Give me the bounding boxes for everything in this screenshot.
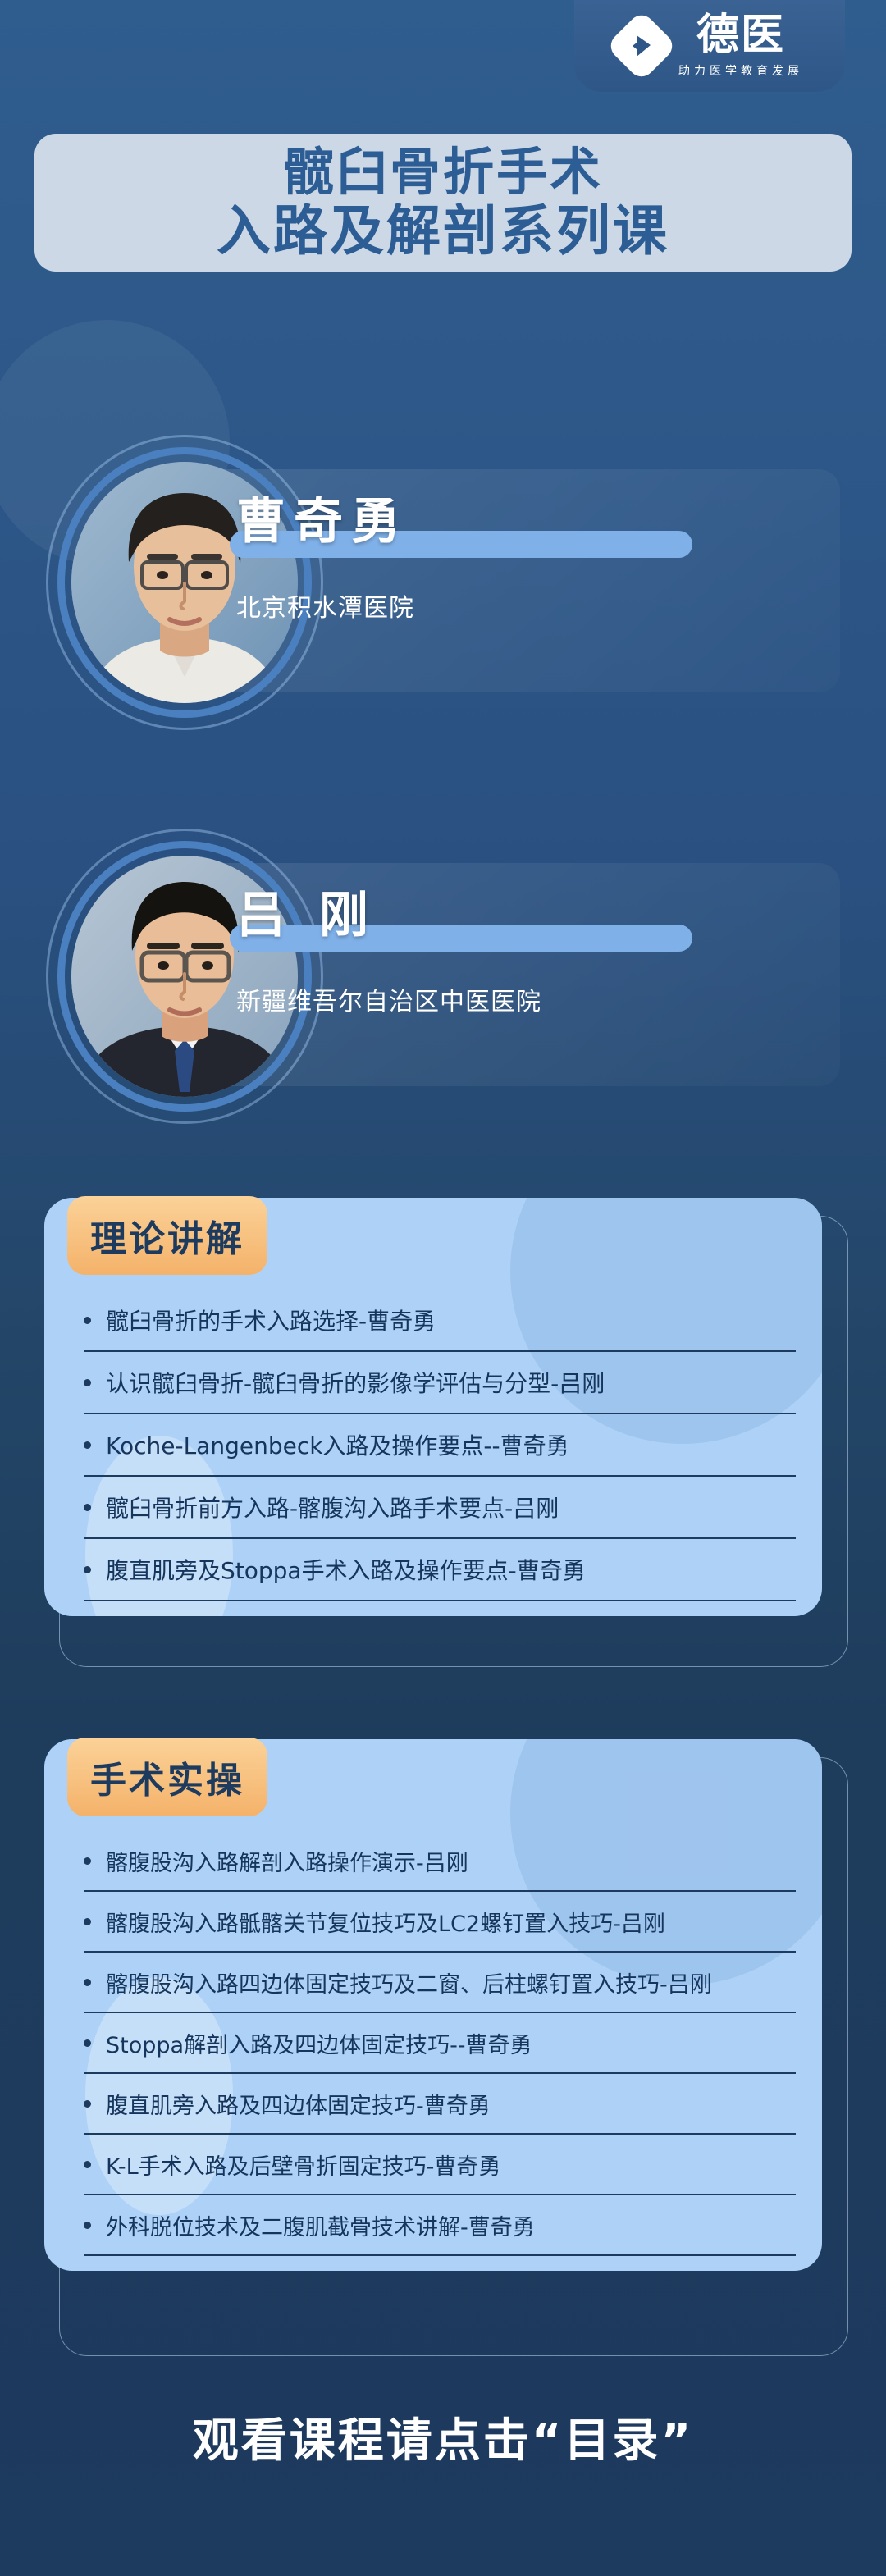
course-list-practice: 髂腹股沟入路解剖入路操作演示-吕刚 髂腹股沟入路骶髂关节复位技巧及LC2螺钉置入…	[44, 1739, 822, 2271]
section-badge-label: 手术实操	[90, 1751, 244, 1803]
speaker-name: 吕 刚	[236, 886, 827, 940]
list-item-label: K-L手术入路及后壁骨折固定技巧-曹奇勇	[106, 2149, 500, 2181]
list-item-label: 外科脱位技术及二腹肌截骨技术讲解-曹奇勇	[106, 2209, 535, 2241]
list-item-label: 腹直肌旁入路及四边体固定技巧-曹奇勇	[106, 2088, 491, 2120]
list-item[interactable]: 腹直肌旁及Stoppa手术入路及操作要点-曹奇勇	[84, 1539, 796, 1601]
section-theory: 髋臼骨折的手术入路选择-曹奇勇 认识髋臼骨折-髋臼骨折的影像学评估与分型-吕刚 …	[44, 1198, 833, 1649]
footer-cta-label: 观看课程请点击“目录”	[193, 2414, 694, 2468]
list-item-label: 髋臼骨折的手术入路选择-曹奇勇	[106, 1304, 436, 1336]
bullet-icon	[84, 1857, 91, 1865]
brand-tagline: 助力医学教育发展	[678, 62, 803, 79]
list-item-label: 认识髋臼骨折-髋臼骨折的影像学评估与分型-吕刚	[106, 1366, 605, 1399]
bullet-icon	[84, 1918, 91, 1925]
brand-name: 德医	[696, 14, 785, 57]
bullet-icon	[84, 1979, 91, 1986]
bullet-icon	[84, 2222, 91, 2229]
bullet-icon	[84, 2100, 91, 2108]
speaker-org: 新疆维吾尔自治区中医医院	[236, 981, 827, 1017]
list-item-label: Koche-Langenbeck入路及操作要点--曹奇勇	[106, 1428, 569, 1461]
footer-cta: 观看课程请点击“目录”	[0, 2404, 886, 2470]
section-practice: 髂腹股沟入路解剖入路操作演示-吕刚 髂腹股沟入路骶髂关节复位技巧及LC2螺钉置入…	[44, 1739, 833, 2338]
bullet-icon	[84, 2161, 91, 2168]
list-item[interactable]: 髂腹股沟入路骶髂关节复位技巧及LC2螺钉置入技巧-吕刚	[84, 1892, 796, 1953]
list-item[interactable]: 髋臼骨折前方入路-髂腹沟入路手术要点-吕刚	[84, 1477, 796, 1539]
list-item-label: 髂腹股沟入路四边体固定技巧及二窗、后柱螺钉置入技巧-吕刚	[106, 1966, 712, 1998]
play-diamond-icon	[605, 10, 678, 82]
bullet-icon	[84, 1379, 91, 1386]
section-badge-label: 理论讲解	[90, 1209, 244, 1262]
list-item[interactable]: Koche-Langenbeck入路及操作要点--曹奇勇	[84, 1414, 796, 1477]
poster-root: 德医 助力医学教育发展 髋臼骨折手术 入路及解剖系列课	[0, 0, 886, 2576]
list-item-label: 髂腹股沟入路解剖入路操作演示-吕刚	[106, 1845, 468, 1877]
section-card: 髂腹股沟入路解剖入路操作演示-吕刚 髂腹股沟入路骶髂关节复位技巧及LC2螺钉置入…	[44, 1739, 822, 2271]
section-badge-practice: 手术实操	[67, 1738, 267, 1816]
list-item[interactable]: K-L手术入路及后壁骨折固定技巧-曹奇勇	[84, 2135, 796, 2195]
bullet-icon	[84, 2039, 91, 2047]
section-badge-theory: 理论讲解	[67, 1196, 267, 1275]
bullet-icon	[84, 1504, 91, 1511]
list-item[interactable]: 腹直肌旁入路及四边体固定技巧-曹奇勇	[84, 2074, 796, 2135]
list-item-label: 髂腹股沟入路骶髂关节复位技巧及LC2螺钉置入技巧-吕刚	[106, 1906, 665, 1938]
speaker-info: 曹奇勇 北京积水潭医院	[236, 492, 827, 623]
brand-logo: 德医 助力医学教育发展	[574, 0, 845, 92]
list-item[interactable]: Stoppa解剖入路及四边体固定技巧--曹奇勇	[84, 2013, 796, 2074]
speaker-info: 吕 刚 新疆维吾尔自治区中医医院	[236, 886, 827, 1017]
title-line-2: 入路及解剖系列课	[217, 201, 669, 262]
title-line-1: 髋臼骨折手术	[283, 144, 603, 200]
bullet-icon	[84, 1566, 91, 1573]
speaker-name: 曹奇勇	[236, 492, 827, 546]
speaker-card-2: 吕 刚 新疆维吾尔自治区中医医院	[46, 829, 840, 1124]
speaker-card-1: 曹奇勇 北京积水潭医院	[46, 435, 840, 730]
list-item-label: Stoppa解剖入路及四边体固定技巧--曹奇勇	[106, 2027, 532, 2059]
list-item-label: 髋臼骨折前方入路-髂腹沟入路手术要点-吕刚	[106, 1491, 559, 1523]
page-title: 髋臼骨折手术 入路及解剖系列课	[34, 134, 852, 272]
list-item[interactable]: 髂腹股沟入路解剖入路操作演示-吕刚	[84, 1831, 796, 1892]
speaker-org: 北京积水潭医院	[236, 587, 827, 623]
list-item[interactable]: 髋臼骨折的手术入路选择-曹奇勇	[84, 1290, 796, 1352]
list-item[interactable]: 外科脱位技术及二腹肌截骨技术讲解-曹奇勇	[84, 2195, 796, 2256]
list-item[interactable]: 髂腹股沟入路四边体固定技巧及二窗、后柱螺钉置入技巧-吕刚	[84, 1953, 796, 2013]
list-item-label: 腹直肌旁及Stoppa手术入路及操作要点-曹奇勇	[106, 1553, 586, 1586]
bullet-icon	[84, 1317, 91, 1324]
list-item[interactable]: 认识髋臼骨折-髋臼骨折的影像学评估与分型-吕刚	[84, 1352, 796, 1414]
bullet-icon	[84, 1441, 91, 1449]
